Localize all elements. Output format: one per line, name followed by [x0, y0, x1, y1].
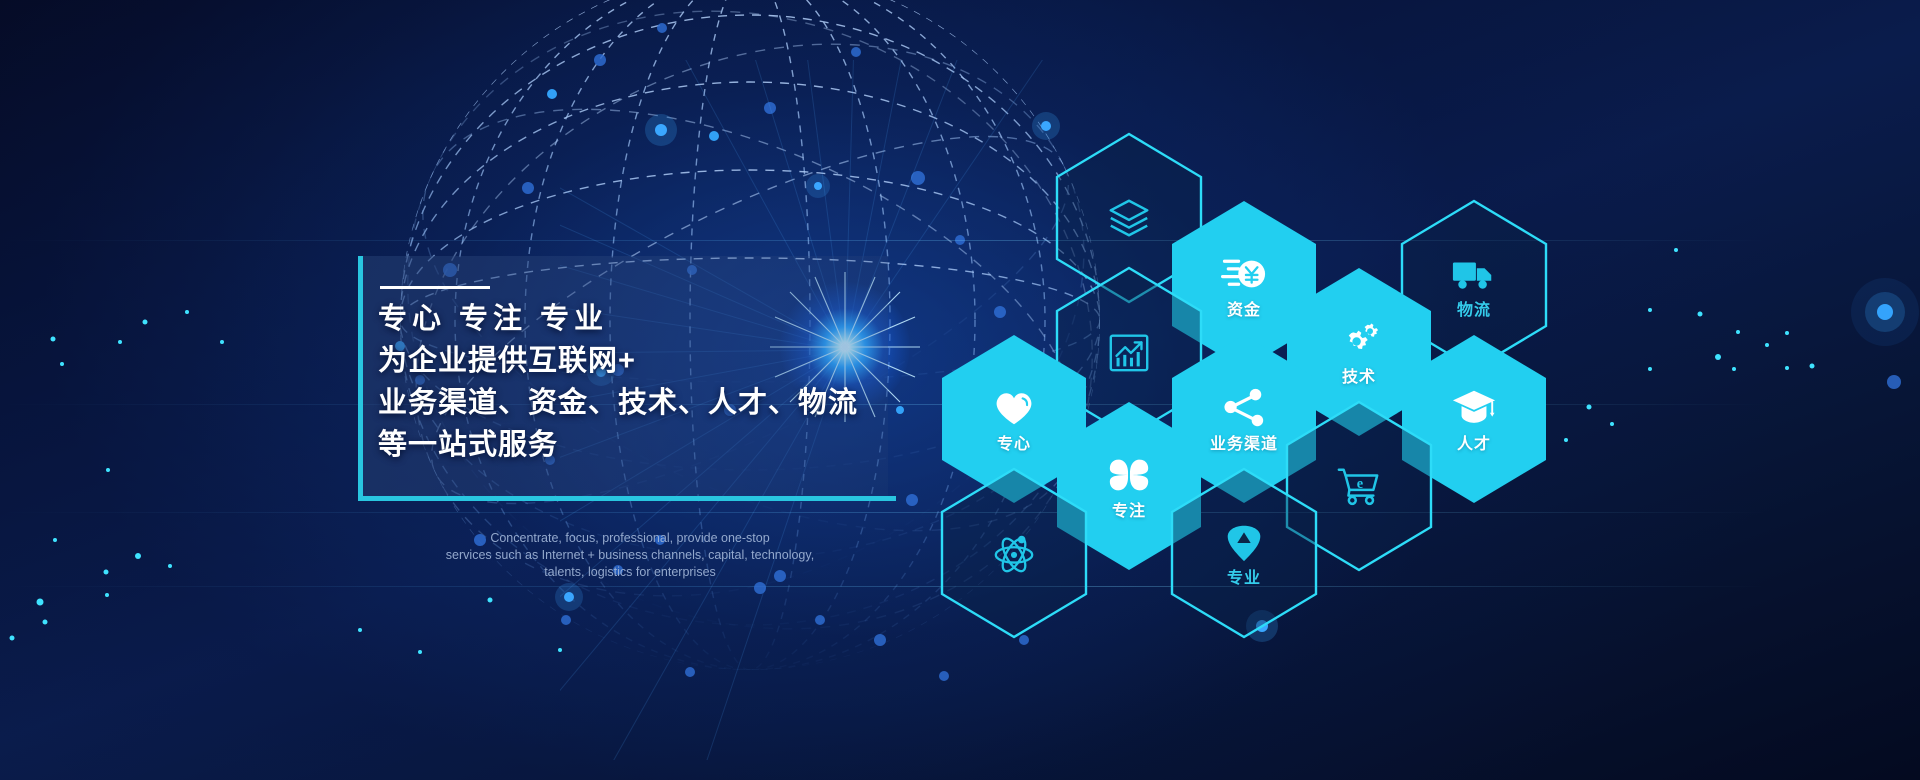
- clover-icon: [1106, 452, 1152, 498]
- truck-icon: [1451, 251, 1497, 297]
- money-yen-icon: [1221, 251, 1267, 297]
- hexagon-label: 专心: [997, 437, 1031, 453]
- share-nodes-icon: [1221, 385, 1267, 431]
- gears-icon: [1336, 318, 1382, 364]
- graduation-cap-icon: [1451, 385, 1497, 431]
- hexagon-label: 专业: [1227, 571, 1261, 587]
- hexagon-label: 资金: [1227, 303, 1261, 319]
- hexagon-cluster: 资金 物流 技术: [0, 0, 1920, 780]
- ecommerce-cart-icon: e: [1336, 463, 1382, 509]
- banner-stage: 专心 专注 专业 为企业提供互联网+ 业务渠道、资金、技术、人才、物流 等一站式…: [0, 0, 1920, 780]
- diamond-icon: [1221, 519, 1267, 565]
- heart-icon: [991, 385, 1037, 431]
- hexagon-tile-专业[interactable]: 专业: [1169, 467, 1319, 639]
- hexagon-label: 技术: [1342, 370, 1376, 386]
- layers-icon: [1106, 195, 1152, 241]
- atom-icon: [991, 530, 1037, 576]
- chart-growth-icon: [1106, 329, 1152, 375]
- svg-text:e: e: [1357, 476, 1363, 492]
- hexagon-label: 业务渠道: [1210, 437, 1278, 453]
- hexagon-label: 人才: [1457, 437, 1491, 453]
- hexagon-label: 物流: [1457, 303, 1491, 319]
- hexagon-label: 专注: [1112, 504, 1146, 520]
- hexagon-tile-atom[interactable]: [939, 467, 1089, 639]
